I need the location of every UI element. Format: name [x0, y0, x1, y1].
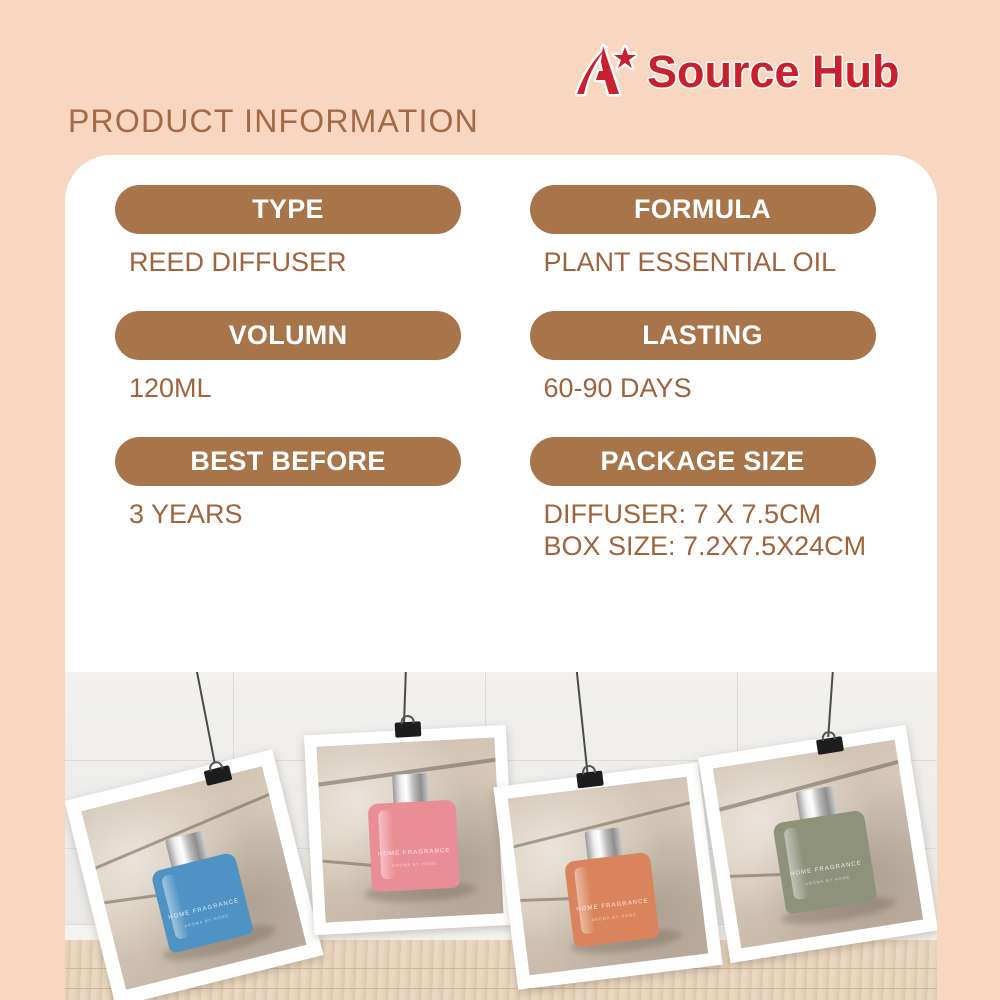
- specification-grid: TYPE REED DIFFUSER FORMULA PLANT ESSENTI…: [115, 185, 887, 562]
- spec-label: PACKAGE SIZE: [600, 448, 804, 475]
- bottle-highlight: [378, 810, 396, 879]
- diffuser-bottle: HOME FRAGRANCE AROMA BY HOME: [368, 800, 460, 892]
- spec-label: BEST BEFORE: [190, 448, 385, 475]
- spec-pill-volumn: VOLUMN: [115, 311, 461, 360]
- spec-pill-best-before: BEST BEFORE: [115, 437, 461, 486]
- green-diffuser-photo[interactable]: HOME FRAGRANCE AROMA BY HOME: [698, 725, 937, 963]
- diffuser-bottle: HOME FRAGRANCE AROMA BY HOME: [772, 810, 877, 915]
- orange-diffuser-photo[interactable]: HOME FRAGRANCE AROMA BY HOME: [493, 762, 722, 990]
- bottle-highlight: [574, 866, 596, 934]
- spec-pill-lasting: LASTING: [530, 311, 876, 360]
- spec-value-line: 120ML: [129, 373, 212, 405]
- spec-item-volumn: VOLUMN 120ML: [115, 311, 473, 405]
- diffuser-bottle: HOME FRAGRANCE AROMA BY HOME: [564, 852, 660, 948]
- spec-pill-formula: FORMULA: [530, 185, 876, 234]
- specification-card: TYPE REED DIFFUSER FORMULA PLANT ESSENTI…: [65, 155, 937, 673]
- binder-clip-icon: [395, 721, 422, 737]
- spec-values-lasting: 60-90 DAYS: [530, 373, 692, 405]
- spec-item-type: TYPE REED DIFFUSER: [115, 185, 473, 279]
- spec-value-line: BOX SIZE: 7.2X7.5X24CM: [544, 531, 867, 563]
- spec-label: TYPE: [252, 196, 324, 223]
- floor-seam: [65, 988, 937, 989]
- spec-values-type: REED DIFFUSER: [115, 247, 347, 279]
- a-star-logo-icon: [575, 42, 637, 100]
- bottle-highlight: [783, 827, 809, 900]
- spec-values-package-size: DIFFUSER: 7 X 7.5CM BOX SIZE: 7.2X7.5X24…: [530, 499, 867, 563]
- spec-item-formula: FORMULA PLANT ESSENTIAL OIL: [530, 185, 888, 279]
- spec-value-line: PLANT ESSENTIAL OIL: [544, 247, 837, 279]
- spec-value-line: DIFFUSER: 7 X 7.5CM: [544, 499, 867, 531]
- product-photo-gallery: HOME FRAGRANCE AROMA BY HOME HOME FRAGRA…: [65, 672, 937, 1000]
- spec-values-formula: PLANT ESSENTIAL OIL: [530, 247, 837, 279]
- brand-wordmark: Source Hub: [647, 49, 900, 94]
- spec-pill-type: TYPE: [115, 185, 461, 234]
- pink-diffuser-photo[interactable]: HOME FRAGRANCE AROMA BY HOME: [304, 725, 516, 935]
- spec-values-best-before: 3 YEARS: [115, 499, 243, 531]
- spec-values-volumn: 120ML: [115, 373, 212, 405]
- page-title: PRODUCT INFORMATION: [68, 103, 479, 140]
- binder-clip-icon: [576, 770, 604, 788]
- spec-value-line: 3 YEARS: [129, 499, 243, 531]
- spec-label: FORMULA: [634, 196, 771, 223]
- spec-item-best-before: BEST BEFORE 3 YEARS: [115, 437, 473, 563]
- spec-label: VOLUMN: [229, 322, 348, 349]
- spec-item-lasting: LASTING 60-90 DAYS: [530, 311, 888, 405]
- spec-label: LASTING: [642, 322, 763, 349]
- spec-item-package-size: PACKAGE SIZE DIFFUSER: 7 X 7.5CM BOX SIZ…: [530, 437, 888, 563]
- spec-value-line: REED DIFFUSER: [129, 247, 347, 279]
- brand-logo: Source Hub: [575, 38, 900, 104]
- spec-pill-package-size: PACKAGE SIZE: [530, 437, 876, 486]
- spec-value-line: 60-90 DAYS: [544, 373, 692, 405]
- product-information-infographic: Source Hub PRODUCT INFORMATION TYPE REED…: [0, 0, 1000, 1000]
